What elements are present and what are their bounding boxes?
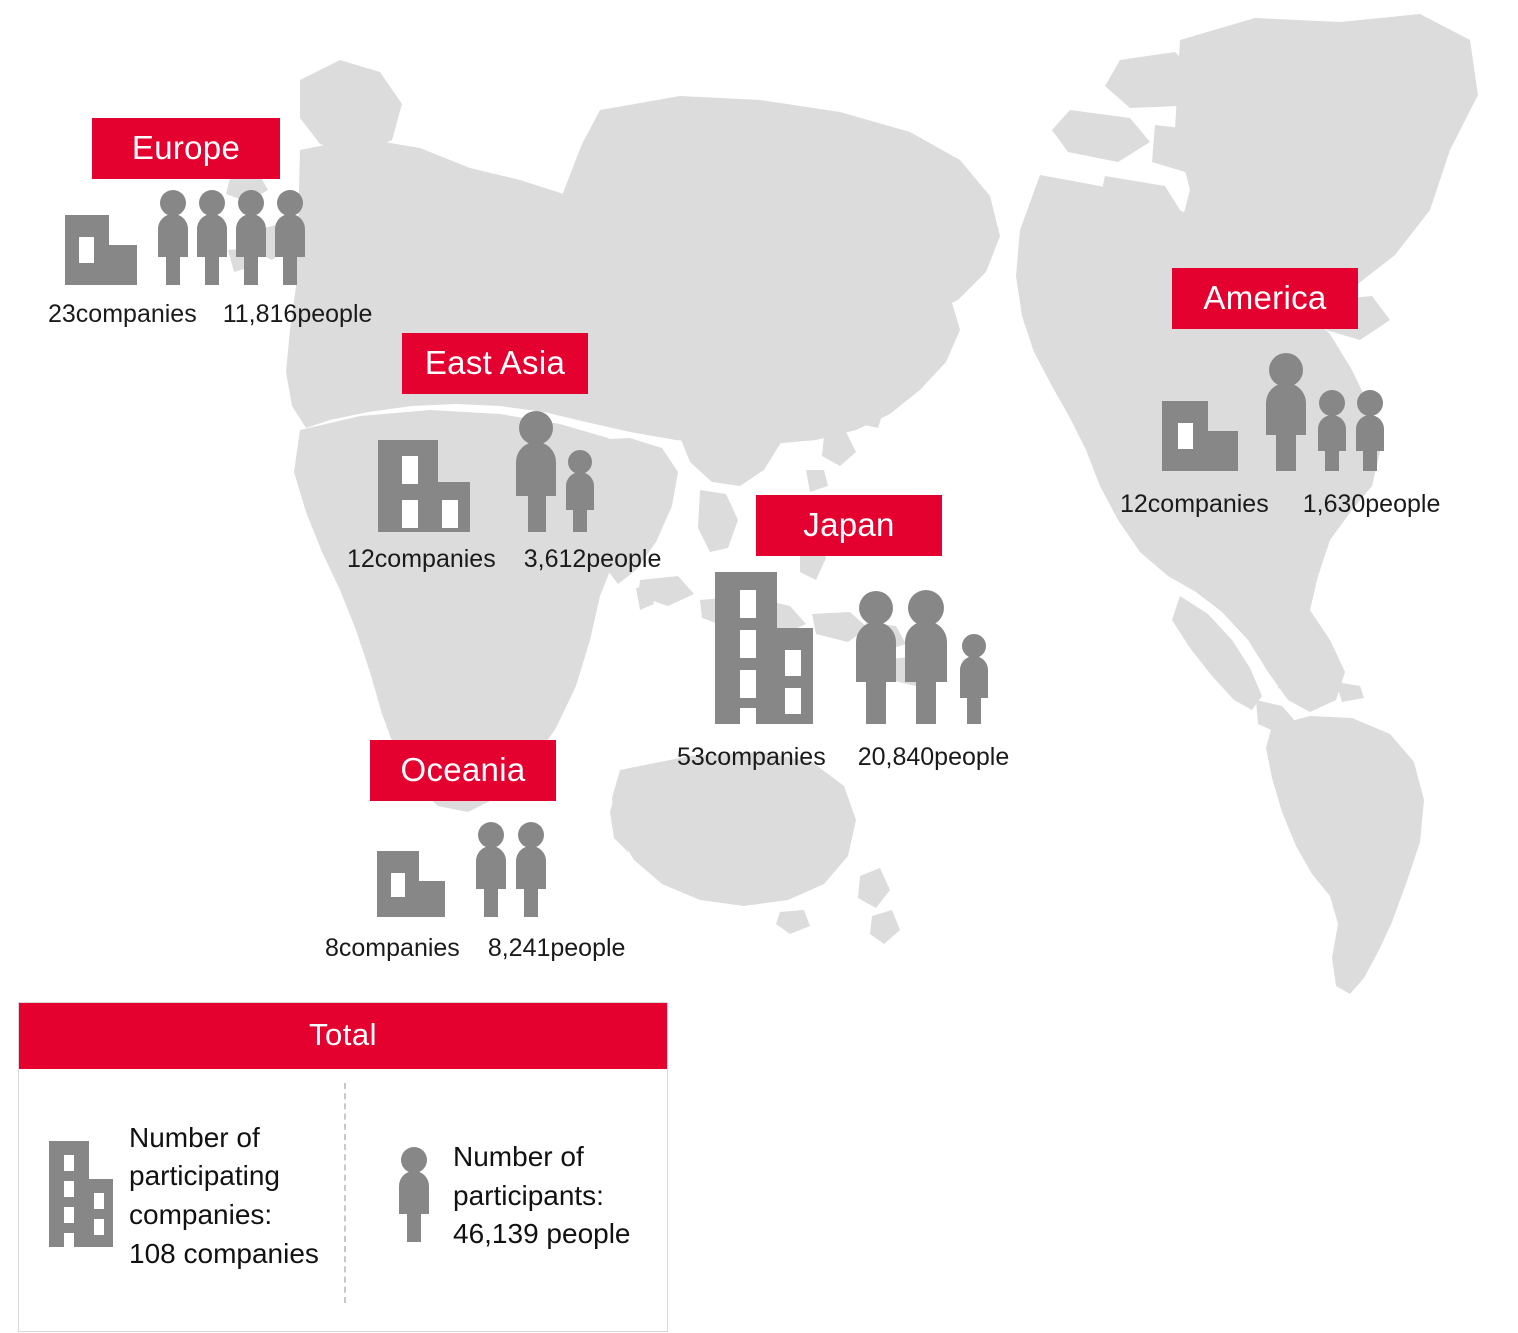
- people-icon-group: [473, 821, 549, 922]
- region-icons-east-asia: [378, 410, 665, 537]
- region-east-asia: East Asia 12companies 3,6: [345, 333, 665, 574]
- region-stats-oceania: 8companies 8,241people: [325, 934, 635, 963]
- people-value-east-asia: 3,612people: [524, 545, 662, 574]
- people-value-america: 1,630people: [1303, 490, 1441, 519]
- companies-value-east-asia: 12companies: [347, 545, 496, 574]
- total-header: Total: [19, 1003, 667, 1069]
- building-icon-small: [377, 843, 445, 922]
- region-stats-east-asia: 12companies 3,612people: [347, 545, 665, 574]
- companies-value-europe: 23companies: [48, 300, 197, 329]
- people-value-europe: 11,816people: [223, 300, 373, 329]
- region-stats-america: 12companies 1,630people: [1120, 490, 1460, 519]
- total-participants-column: Number of participants: 46,139 people: [349, 1075, 667, 1317]
- region-stats-europe: 23companies 11,816people: [48, 300, 370, 329]
- total-body: Number of participating companies: 108 c…: [19, 1069, 667, 1317]
- region-icons-japan: [715, 572, 1035, 729]
- total-companies-text: Number of participating companies: 108 c…: [129, 1119, 319, 1274]
- companies-value-japan: 53companies: [677, 743, 826, 772]
- companies-value-america: 12companies: [1120, 490, 1269, 519]
- building-icon-large: [715, 572, 813, 729]
- people-icon-group: [851, 590, 993, 729]
- region-japan: Japan: [675, 495, 1035, 772]
- companies-value-oceania: 8companies: [325, 934, 460, 963]
- region-label-east-asia: East Asia: [402, 333, 588, 394]
- region-icons-america: [1162, 353, 1460, 476]
- region-label-japan: Japan: [756, 495, 942, 556]
- total-participants-text: Number of participants: 46,139 people: [453, 1138, 631, 1254]
- building-icon-small: [65, 205, 137, 290]
- region-label-america: America: [1172, 268, 1358, 329]
- people-value-japan: 20,840people: [858, 743, 1010, 772]
- building-icon-medium: [378, 440, 470, 537]
- region-stats-japan: 53companies 20,840people: [677, 743, 1035, 772]
- region-icons-oceania: [377, 821, 635, 922]
- people-icon-group: [155, 189, 305, 290]
- people-value-oceania: 8,241people: [488, 934, 626, 963]
- total-panel: Total Number of participating companies:…: [18, 1002, 668, 1332]
- region-icons-europe: [65, 189, 370, 290]
- person-icon-legend: [391, 1146, 437, 1247]
- region-america: America 12companies 1: [1110, 268, 1460, 519]
- people-icon-group: [510, 410, 600, 537]
- building-icon-legend: [49, 1141, 113, 1252]
- total-divider: [344, 1083, 346, 1303]
- region-label-europe: Europe: [92, 118, 280, 179]
- total-companies-column: Number of participating companies: 108 c…: [19, 1075, 349, 1317]
- region-europe: Europe: [40, 118, 370, 329]
- region-oceania: Oceania 8companies 8,241people: [305, 740, 635, 963]
- people-icon-group: [1260, 353, 1384, 476]
- building-icon-small: [1162, 387, 1238, 476]
- region-label-oceania: Oceania: [370, 740, 556, 801]
